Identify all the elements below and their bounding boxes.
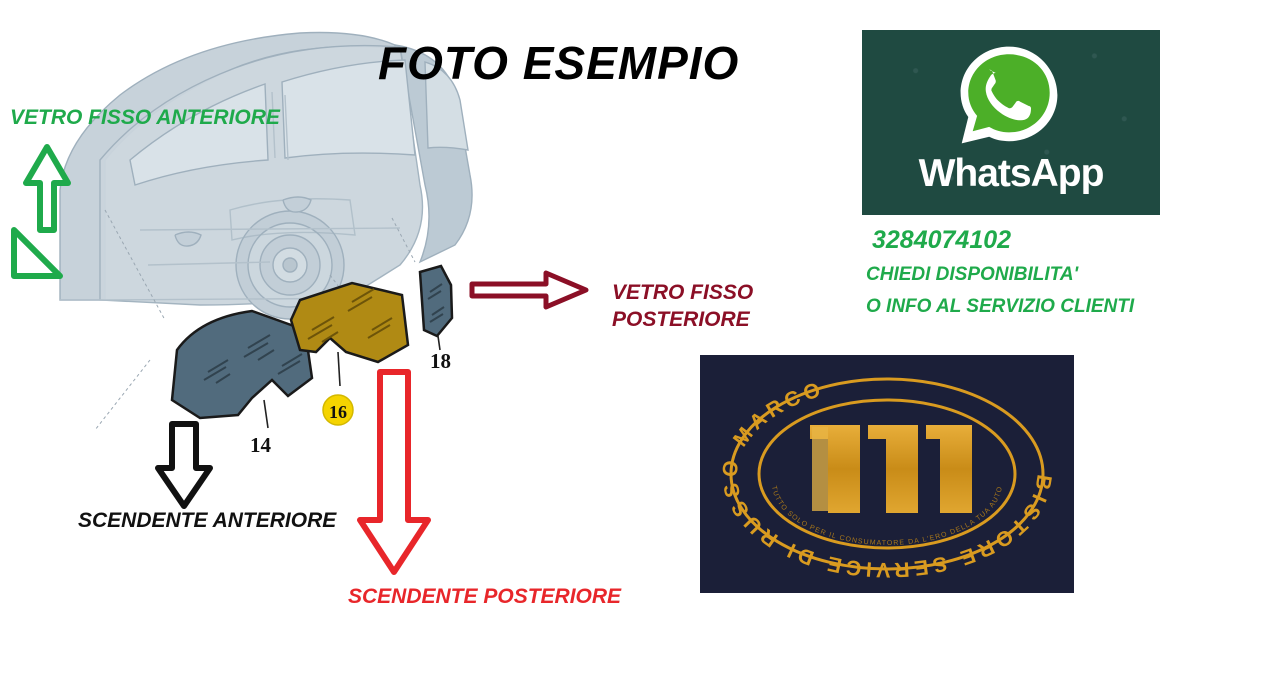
green-up-arrow — [10, 135, 80, 235]
contact-line-1: CHIEDI DISPONIBILITA' — [866, 264, 1078, 286]
red-down-arrow — [352, 368, 436, 578]
label-vetro-fisso-posteriore: VETRO FISSO POSTERIORE — [612, 280, 753, 334]
part-16-badge: 16 — [323, 395, 353, 425]
dark-red-right-arrow — [468, 268, 592, 312]
shop-logo: MRICAMBISTORE SERVICE DI RUSSO MARCO TUT… — [700, 355, 1074, 593]
label-scendente-anteriore: SCENDENTE ANTERIORE — [78, 509, 336, 533]
logo-monogram — [810, 425, 972, 513]
label-vfp-line2: POSTERIORE — [612, 307, 753, 334]
contact-line-2: O INFO AL SERVIZIO CLIENTI — [866, 296, 1134, 318]
part-number-14: 14 — [250, 433, 272, 457]
whatsapp-wordmark: WhatsApp — [862, 152, 1160, 196]
whatsapp-banner: WhatsApp — [862, 30, 1160, 215]
label-vfp-line1: VETRO FISSO — [612, 280, 753, 307]
label-scendente-posteriore: SCENDENTE POSTERIORE — [348, 585, 621, 609]
whatsapp-phone-number: 3284074102 — [872, 226, 1011, 255]
black-down-arrow — [148, 418, 220, 512]
page-title: FOTO ESEMPIO — [378, 36, 739, 90]
part-number-16: 16 — [329, 402, 347, 422]
green-triangle-marker — [6, 222, 68, 284]
whatsapp-icon — [954, 40, 1064, 150]
part-18-glass: 18 — [420, 266, 452, 373]
label-vetro-fisso-anteriore: VETRO FISSO ANTERIORE — [10, 106, 280, 130]
